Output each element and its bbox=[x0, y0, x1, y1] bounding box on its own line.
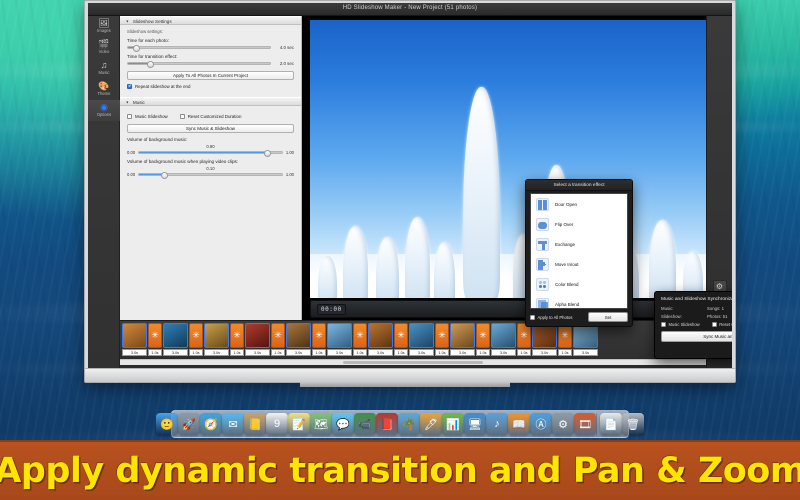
sync-panel-title: Music and Slideshow Synchronization: bbox=[661, 297, 732, 302]
photo-time-slider[interactable]: 4.0 sec bbox=[127, 45, 294, 50]
filmstrip-photo-cell[interactable]: 3.0s bbox=[491, 323, 516, 356]
cell-duration-label[interactable]: 1.0s bbox=[476, 349, 490, 356]
transition-icon[interactable]: ✳ bbox=[435, 323, 449, 348]
volume-max: 1.00 bbox=[286, 150, 294, 155]
music-header[interactable]: ▼ Music bbox=[120, 97, 301, 106]
filmstrip-transition-cell[interactable]: ✳1.0s bbox=[435, 323, 449, 356]
dock-icon-messages[interactable]: 💬 bbox=[332, 413, 354, 435]
cell-duration-label[interactable]: 3.0s bbox=[286, 349, 311, 356]
promo-banner: Apply dynamic transition and Pan & Zoom bbox=[0, 440, 800, 500]
dock-icon-appstore[interactable]: Ⓐ bbox=[530, 413, 552, 435]
photo-thumbnail[interactable] bbox=[122, 323, 147, 348]
transition-time-label: Time for transition effect: bbox=[127, 54, 294, 59]
filmstrip-photo-cell[interactable]: 3.0s bbox=[122, 323, 147, 356]
filmstrip-photo-cell[interactable]: 3.0s bbox=[532, 323, 557, 356]
transition-icon[interactable]: ✳ bbox=[189, 323, 203, 348]
volume-knob[interactable] bbox=[264, 150, 271, 157]
cell-duration-label[interactable]: 3.0s bbox=[491, 349, 516, 356]
photo-thumbnail[interactable] bbox=[204, 323, 229, 348]
photo-thumbnail[interactable] bbox=[163, 323, 188, 348]
apply-to-all-photos-button[interactable]: Apply To All Photos In Current Project bbox=[127, 71, 294, 80]
transition-time-knob[interactable] bbox=[147, 61, 154, 68]
app-window: HD Slideshow Maker - New Project (51 pho… bbox=[88, 3, 732, 368]
dock-icon-pages[interactable]: 🖊 bbox=[420, 413, 442, 435]
sync-row-count: Photos: 51 bbox=[707, 314, 732, 319]
filmstrip-transition-cell[interactable]: ✳1.0s bbox=[394, 323, 408, 356]
dock-icon-notes[interactable]: 📝 bbox=[288, 413, 310, 435]
filmstrip-photo-cell[interactable]: 3.0s bbox=[286, 323, 311, 356]
filmstrip-transition-cell[interactable]: ✳1.0s bbox=[271, 323, 285, 356]
rail-item-label: Options bbox=[88, 112, 120, 118]
promo-banner-text: Apply dynamic transition and Pan & Zoom bbox=[0, 451, 800, 491]
reset-duration-checkbox[interactable] bbox=[180, 114, 185, 119]
transition-effect-popup: Select a transition effect Door OpenFlip… bbox=[525, 179, 633, 327]
photo-time-value: 4.0 sec bbox=[275, 45, 294, 50]
settings-pane: ▼ Slideshow Settings Slideshow settings:… bbox=[120, 16, 302, 320]
door-open-icon bbox=[536, 198, 549, 211]
sync-row-key: Music: bbox=[661, 306, 707, 311]
filmstrip-photo-cell[interactable]: 3.0s bbox=[368, 323, 393, 356]
dock-icon-itunes[interactable]: ♪ bbox=[486, 413, 508, 435]
rail-item-label: Theme bbox=[88, 91, 120, 97]
filmstrip-scrollbar[interactable] bbox=[120, 359, 706, 365]
transition-option-door-open[interactable]: Door Open bbox=[531, 194, 627, 214]
sync-panel: Music and Slideshow Synchronization: Mus… bbox=[654, 291, 732, 359]
cell-duration-label[interactable]: 3.0s bbox=[450, 349, 475, 356]
sync-music-slideshow-row[interactable]: Music Slideshow bbox=[661, 322, 700, 327]
filmstrip-transition-cell[interactable]: ✳1.0s bbox=[189, 323, 203, 356]
title-bar[interactable]: HD Slideshow Maker - New Project (51 pho… bbox=[88, 3, 732, 16]
cell-duration-label[interactable]: 3.0s bbox=[532, 349, 557, 356]
cell-duration-label[interactable]: 3.0s bbox=[368, 349, 393, 356]
preview-area: 00:00 bbox=[302, 16, 732, 320]
filmstrip-transition-cell[interactable]: ✳1.0s bbox=[558, 323, 572, 356]
sync-row-count: Songs: 1 bbox=[707, 306, 732, 311]
disclosure-triangle-icon[interactable]: ▼ bbox=[126, 19, 129, 23]
dock-icon-settings[interactable]: ⚙ bbox=[552, 413, 574, 435]
video-volume-label: Volume of background music when playing … bbox=[127, 159, 294, 164]
transition-icon[interactable]: ✳ bbox=[394, 323, 408, 348]
filmstrip-transition-cell[interactable]: ✳1.0s bbox=[476, 323, 490, 356]
video-volume-track[interactable] bbox=[138, 173, 283, 176]
dock-icon-maps[interactable]: 🗺 bbox=[310, 413, 332, 435]
exchange-icon bbox=[536, 238, 549, 251]
cell-duration-label[interactable]: 3.0s bbox=[327, 349, 352, 356]
sync-music-slideshow-checkbox[interactable] bbox=[661, 322, 666, 327]
dock-icon-finder[interactable]: 🙂 bbox=[156, 413, 178, 435]
cell-duration-label[interactable]: 3.0s bbox=[409, 349, 434, 356]
cell-duration-label[interactable]: 1.0s bbox=[353, 349, 367, 356]
settings-subtitle: Slideshow settings: bbox=[127, 29, 294, 34]
music-slideshow-label: Music Slideshow bbox=[135, 114, 168, 119]
popup-apply-all-checkbox[interactable] bbox=[530, 315, 535, 320]
transition-option-label: Door Open bbox=[555, 202, 577, 207]
slideshow-settings-title: Slideshow Settings bbox=[133, 19, 172, 24]
dock-icon-facetime[interactable]: 📹 bbox=[354, 413, 376, 435]
sync-row-key: Slideshow: bbox=[661, 314, 707, 319]
transition-option-alpha-blend[interactable]: Alpha Blend bbox=[531, 294, 627, 309]
dock-icon-numbers[interactable]: 📊 bbox=[442, 413, 464, 435]
dock-icon-calendar[interactable]: 9 bbox=[266, 413, 288, 435]
filmstrip-transition-cell[interactable]: ✳1.0s bbox=[517, 323, 531, 356]
flip-over-icon bbox=[536, 218, 549, 231]
volume-track[interactable] bbox=[138, 151, 283, 154]
slideshow-settings-header[interactable]: ▼ Slideshow Settings bbox=[120, 16, 301, 25]
dock-icon-app-icon[interactable]: 🎞 bbox=[574, 413, 596, 435]
cell-duration-label[interactable]: 1.0s bbox=[517, 349, 531, 356]
filmstrip-transition-cell[interactable]: ✳1.0s bbox=[230, 323, 244, 356]
transition-option-exchange[interactable]: Exchange bbox=[531, 234, 627, 254]
dock-icon-safari[interactable]: 🧭 bbox=[200, 413, 222, 435]
photo-thumbnail[interactable] bbox=[491, 323, 516, 348]
screenshot-root: 🙂🚀🧭✉📒9📝🗺💬📹📕🌴🖊📊🖥♪📖Ⓐ⚙🎞📄🗑 HD Slideshow Make… bbox=[0, 0, 800, 500]
cell-duration-label[interactable]: 3.0s bbox=[122, 349, 147, 356]
photo-thumbnail[interactable] bbox=[327, 323, 352, 348]
dock-icon-contacts[interactable]: 📒 bbox=[244, 413, 266, 435]
dock-icon-keynote[interactable]: 🖥 bbox=[464, 413, 486, 435]
repeat-slideshow-label: Repeat slideshow at the end bbox=[135, 84, 190, 89]
sync-reset-duration-checkbox[interactable] bbox=[712, 322, 717, 327]
photo-time-track[interactable] bbox=[127, 46, 271, 49]
reset-duration-row[interactable]: Reset Customized Duration bbox=[180, 114, 242, 119]
transition-icon[interactable]: ✳ bbox=[353, 323, 367, 348]
options-icon: ◉ bbox=[88, 102, 120, 112]
move-inout-icon bbox=[536, 258, 549, 271]
transition-time-slider[interactable]: 2.0 sec bbox=[127, 61, 294, 66]
volume-min: 0.00 bbox=[127, 150, 135, 155]
filmstrip-transition-cell[interactable]: ✳1.0s bbox=[312, 323, 326, 356]
cell-duration-label[interactable]: 1.0s bbox=[558, 349, 572, 356]
sync-info-row: Music:Songs: 1Duration: 04:47 bbox=[661, 306, 732, 311]
sync-music-slideshow-label: Music Slideshow bbox=[669, 322, 700, 327]
monitor-chin bbox=[85, 368, 735, 382]
repeat-slideshow-row[interactable]: Repeat slideshow at the end bbox=[127, 84, 294, 89]
sync-reset-duration-row[interactable]: Reset Customized Duration bbox=[712, 322, 732, 327]
photo-thumbnail[interactable] bbox=[409, 323, 434, 348]
transition-option-label: Color Blend bbox=[555, 282, 579, 287]
popup-apply-all-row[interactable]: Apply to All Photos bbox=[530, 315, 572, 320]
video-volume-slider[interactable]: 0.00 1.00 bbox=[127, 172, 294, 177]
filmstrip-photo-cell[interactable]: 3.0s bbox=[450, 323, 475, 356]
preview-timecode: 00:00 bbox=[317, 304, 346, 315]
rail-item-options[interactable]: ◉Options bbox=[88, 100, 120, 121]
dock-icon-mail[interactable]: ✉ bbox=[222, 413, 244, 435]
filmstrip-photo-cell[interactable]: 3.0s bbox=[573, 323, 598, 356]
video-volume-min: 0.00 bbox=[127, 172, 135, 177]
rail-item-label: Music bbox=[88, 70, 120, 76]
photo-thumbnail[interactable] bbox=[450, 323, 475, 348]
transition-icon[interactable]: ✳ bbox=[271, 323, 285, 348]
preview-image bbox=[310, 20, 724, 298]
alpha-blend-icon bbox=[536, 298, 549, 310]
cell-duration-label[interactable]: 3.0s bbox=[245, 349, 270, 356]
transition-option-label: Move In/out bbox=[555, 262, 579, 267]
dock-icon-ibooks-red[interactable]: 📕 bbox=[376, 413, 398, 435]
filmstrip-photo-cell[interactable]: 3.0s bbox=[327, 323, 352, 356]
dock-icon-launchpad[interactable]: 🚀 bbox=[178, 413, 200, 435]
transition-time-value: 2.0 sec bbox=[275, 61, 294, 66]
transition-time-track[interactable] bbox=[127, 62, 271, 65]
transition-options-list[interactable]: Door OpenFlip OverExchangeMove In/outCol… bbox=[530, 193, 628, 309]
video-volume-value: 0.10 bbox=[127, 166, 294, 171]
dock-icon-photos[interactable]: 🌴 bbox=[398, 413, 420, 435]
rail-item-music[interactable]: ♫Music bbox=[88, 58, 120, 79]
cell-duration-label[interactable]: 3.0s bbox=[204, 349, 229, 356]
sync-info-row: Slideshow:Photos: 51Duration: 04:47 bbox=[661, 314, 732, 319]
repeat-slideshow-checkbox[interactable] bbox=[127, 84, 132, 89]
filmstrip-transition-cell[interactable]: ✳1.0s bbox=[148, 323, 162, 356]
transition-icon[interactable]: ✳ bbox=[312, 323, 326, 348]
dock-icon-trash[interactable]: 🗑 bbox=[622, 413, 644, 435]
cell-duration-label[interactable]: 1.0s bbox=[312, 349, 326, 356]
popup-set-button[interactable]: Set bbox=[588, 312, 628, 322]
transition-popup-title: Select a transition effect bbox=[526, 180, 632, 191]
photo-thumbnail[interactable] bbox=[368, 323, 393, 348]
transition-icon[interactable]: ✳ bbox=[148, 323, 162, 348]
monitor-frame: HD Slideshow Maker - New Project (51 pho… bbox=[84, 0, 736, 383]
reset-duration-label: Reset Customized Duration bbox=[188, 114, 242, 119]
cell-duration-label[interactable]: 1.0s bbox=[271, 349, 285, 356]
music-slideshow-checkbox[interactable] bbox=[127, 114, 132, 119]
music-disclosure-triangle-icon[interactable]: ▼ bbox=[126, 100, 129, 104]
dock-icon-documents[interactable]: 📄 bbox=[600, 413, 622, 435]
sync-music-slideshow-button[interactable]: Sync Music & Slideshow bbox=[127, 124, 294, 133]
photo-time-label: Time for each photo: bbox=[127, 38, 294, 43]
cell-duration-label[interactable]: 1.0s bbox=[394, 349, 408, 356]
images-icon: 🖼 bbox=[88, 18, 120, 28]
filmstrip-photo-cell[interactable]: 3.0s bbox=[409, 323, 434, 356]
theme-icon: 🎨 bbox=[88, 81, 120, 91]
cell-duration-label[interactable]: 3.0s bbox=[573, 349, 598, 356]
transition-option-flip-over[interactable]: Flip Over bbox=[531, 214, 627, 234]
cell-duration-label[interactable]: 1.0s bbox=[189, 349, 203, 356]
rail-item-video[interactable]: 🎬Video bbox=[88, 37, 120, 58]
video-volume-max: 1.00 bbox=[286, 172, 294, 177]
filmstrip-photo-cell[interactable]: 3.0s bbox=[163, 323, 188, 356]
volume-slider[interactable]: 0.00 1.00 bbox=[127, 150, 294, 155]
cell-duration-label[interactable]: 1.0s bbox=[435, 349, 449, 356]
photo-time-knob[interactable] bbox=[133, 45, 140, 52]
photo-thumbnail[interactable] bbox=[245, 323, 270, 348]
video-icon: 🎬 bbox=[88, 39, 120, 49]
macos-dock[interactable]: 🙂🚀🧭✉📒9📝🗺💬📹📕🌴🖊📊🖥♪📖Ⓐ⚙🎞📄🗑 bbox=[171, 410, 629, 438]
monitor-stand bbox=[300, 381, 510, 387]
transition-icon[interactable]: ✳ bbox=[230, 323, 244, 348]
left-icon-rail[interactable]: 🖼Images🎬Video♫Music🎨Theme◉Options bbox=[88, 16, 120, 368]
transition-icon[interactable]: ✳ bbox=[476, 323, 490, 348]
cell-duration-label[interactable]: 3.0s bbox=[163, 349, 188, 356]
video-volume-knob[interactable] bbox=[161, 172, 168, 179]
rail-item-label: Images bbox=[88, 28, 120, 34]
volume-label: Volume of background music: bbox=[127, 137, 294, 142]
filmstrip-photo-cell[interactable]: 3.0s bbox=[204, 323, 229, 356]
music-title: Music bbox=[133, 100, 145, 105]
cell-duration-label[interactable]: 1.0s bbox=[230, 349, 244, 356]
popup-apply-all-label: Apply to All Photos bbox=[538, 315, 573, 320]
filmstrip-scrollbar-thumb[interactable] bbox=[343, 361, 484, 364]
rail-item-label: Video bbox=[88, 49, 120, 55]
rail-item-theme[interactable]: 🎨Theme bbox=[88, 79, 120, 100]
volume-fill bbox=[139, 152, 267, 153]
sync-reset-duration-label: Reset Customized Duration bbox=[719, 322, 732, 327]
music-icon: ♫ bbox=[88, 60, 120, 70]
dock-icon-ibooks[interactable]: 📖 bbox=[508, 413, 530, 435]
rail-item-images[interactable]: 🖼Images bbox=[88, 16, 120, 37]
music-slideshow-row[interactable]: Music Slideshow bbox=[127, 114, 168, 119]
transition-option-label: Flip Over bbox=[555, 222, 573, 227]
volume-value: 0.90 bbox=[127, 144, 294, 149]
color-blend-icon bbox=[536, 278, 549, 291]
transition-option-move-in-out[interactable]: Move In/out bbox=[531, 254, 627, 274]
filmstrip-transition-cell[interactable]: ✳1.0s bbox=[353, 323, 367, 356]
filmstrip-photo-cell[interactable]: 3.0s bbox=[245, 323, 270, 356]
transition-option-color-blend[interactable]: Color Blend bbox=[531, 274, 627, 294]
sync-music-and-slideshow-button[interactable]: Sync Music and Slideshow bbox=[661, 331, 732, 342]
transition-option-label: Exchange bbox=[555, 242, 575, 247]
window-title: HD Slideshow Maker - New Project (51 pho… bbox=[88, 5, 732, 11]
transition-option-label: Alpha Blend bbox=[555, 302, 579, 307]
photo-thumbnail[interactable] bbox=[286, 323, 311, 348]
cell-duration-label[interactable]: 1.0s bbox=[148, 349, 162, 356]
